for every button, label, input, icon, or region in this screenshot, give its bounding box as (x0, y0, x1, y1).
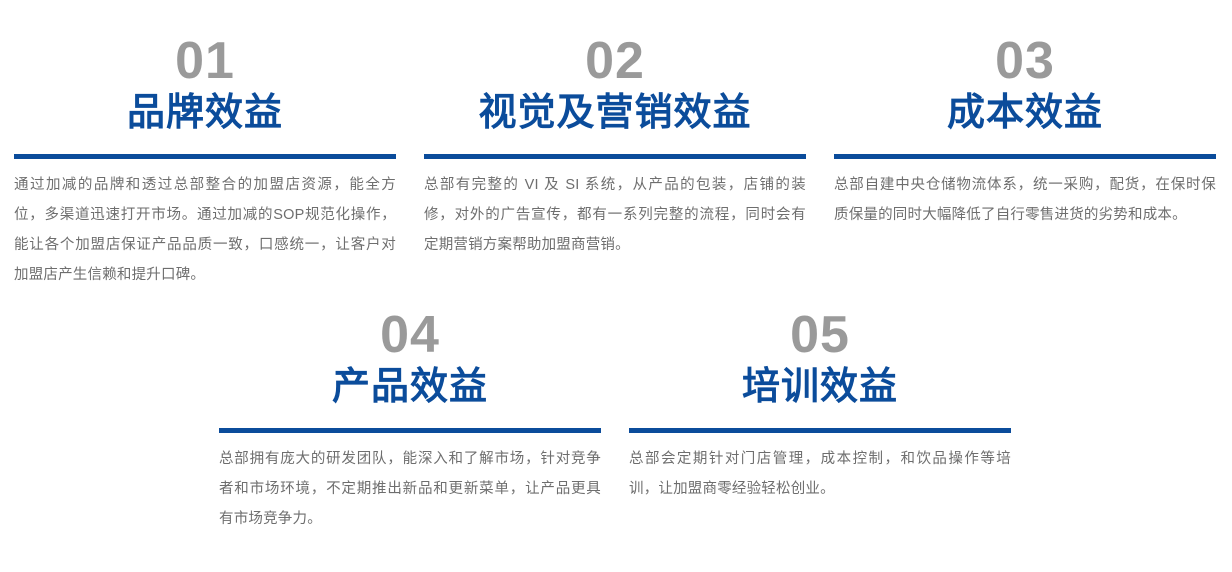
benefit-body-02: 总部有完整的 VI 及 SI 系统，从产品的包装，店铺的装修，对外的广告宣传，都… (424, 170, 806, 260)
benefit-title-03: 成本效益 (834, 92, 1216, 144)
benefit-number-04: 04 (219, 308, 601, 366)
benefit-card-04: 04 产品效益 总部拥有庞大的研发团队，能深入和了解市场，针对竞争者和市场环境，… (205, 308, 615, 534)
benefit-number-01: 01 (14, 34, 396, 92)
benefit-title-01: 品牌效益 (14, 92, 396, 144)
benefits-row-bottom: 04 产品效益 总部拥有庞大的研发团队，能深入和了解市场，针对竞争者和市场环境，… (0, 290, 1232, 534)
benefit-body-05: 总部会定期针对门店管理，成本控制，和饮品操作等培训，让加盟商零经验轻松创业。 (629, 444, 1011, 504)
benefit-divider-03 (834, 154, 1216, 159)
benefit-number-05: 05 (629, 308, 1011, 366)
benefit-card-02: 02 视觉及营销效益 总部有完整的 VI 及 SI 系统，从产品的包装，店铺的装… (410, 34, 820, 290)
benefits-board: 01 品牌效益 通过加减的品牌和透过总部整合的加盟店资源，能全方位，多渠道迅速打… (0, 0, 1232, 572)
benefit-card-01: 01 品牌效益 通过加减的品牌和透过总部整合的加盟店资源，能全方位，多渠道迅速打… (0, 34, 410, 290)
benefits-row-top: 01 品牌效益 通过加减的品牌和透过总部整合的加盟店资源，能全方位，多渠道迅速打… (0, 0, 1232, 290)
benefit-number-03: 03 (834, 34, 1216, 92)
benefit-card-05: 05 培训效益 总部会定期针对门店管理，成本控制，和饮品操作等培训，让加盟商零经… (615, 308, 1025, 534)
benefit-number-02: 02 (424, 34, 806, 92)
benefit-divider-04 (219, 428, 601, 433)
benefit-divider-02 (424, 154, 806, 159)
benefit-card-03: 03 成本效益 总部自建中央仓储物流体系，统一采购，配货，在保时保质保量的同时大… (820, 34, 1230, 290)
benefit-body-04: 总部拥有庞大的研发团队，能深入和了解市场，针对竞争者和市场环境，不定期推出新品和… (219, 444, 601, 534)
benefit-body-03: 总部自建中央仓储物流体系，统一采购，配货，在保时保质保量的同时大幅降低了自行零售… (834, 170, 1216, 230)
benefit-title-02: 视觉及营销效益 (424, 92, 806, 144)
benefit-divider-05 (629, 428, 1011, 433)
benefit-body-01: 通过加减的品牌和透过总部整合的加盟店资源，能全方位，多渠道迅速打开市场。通过加减… (14, 170, 396, 290)
benefit-title-05: 培训效益 (629, 366, 1011, 418)
benefit-title-04: 产品效益 (219, 366, 601, 418)
benefit-divider-01 (14, 154, 396, 159)
